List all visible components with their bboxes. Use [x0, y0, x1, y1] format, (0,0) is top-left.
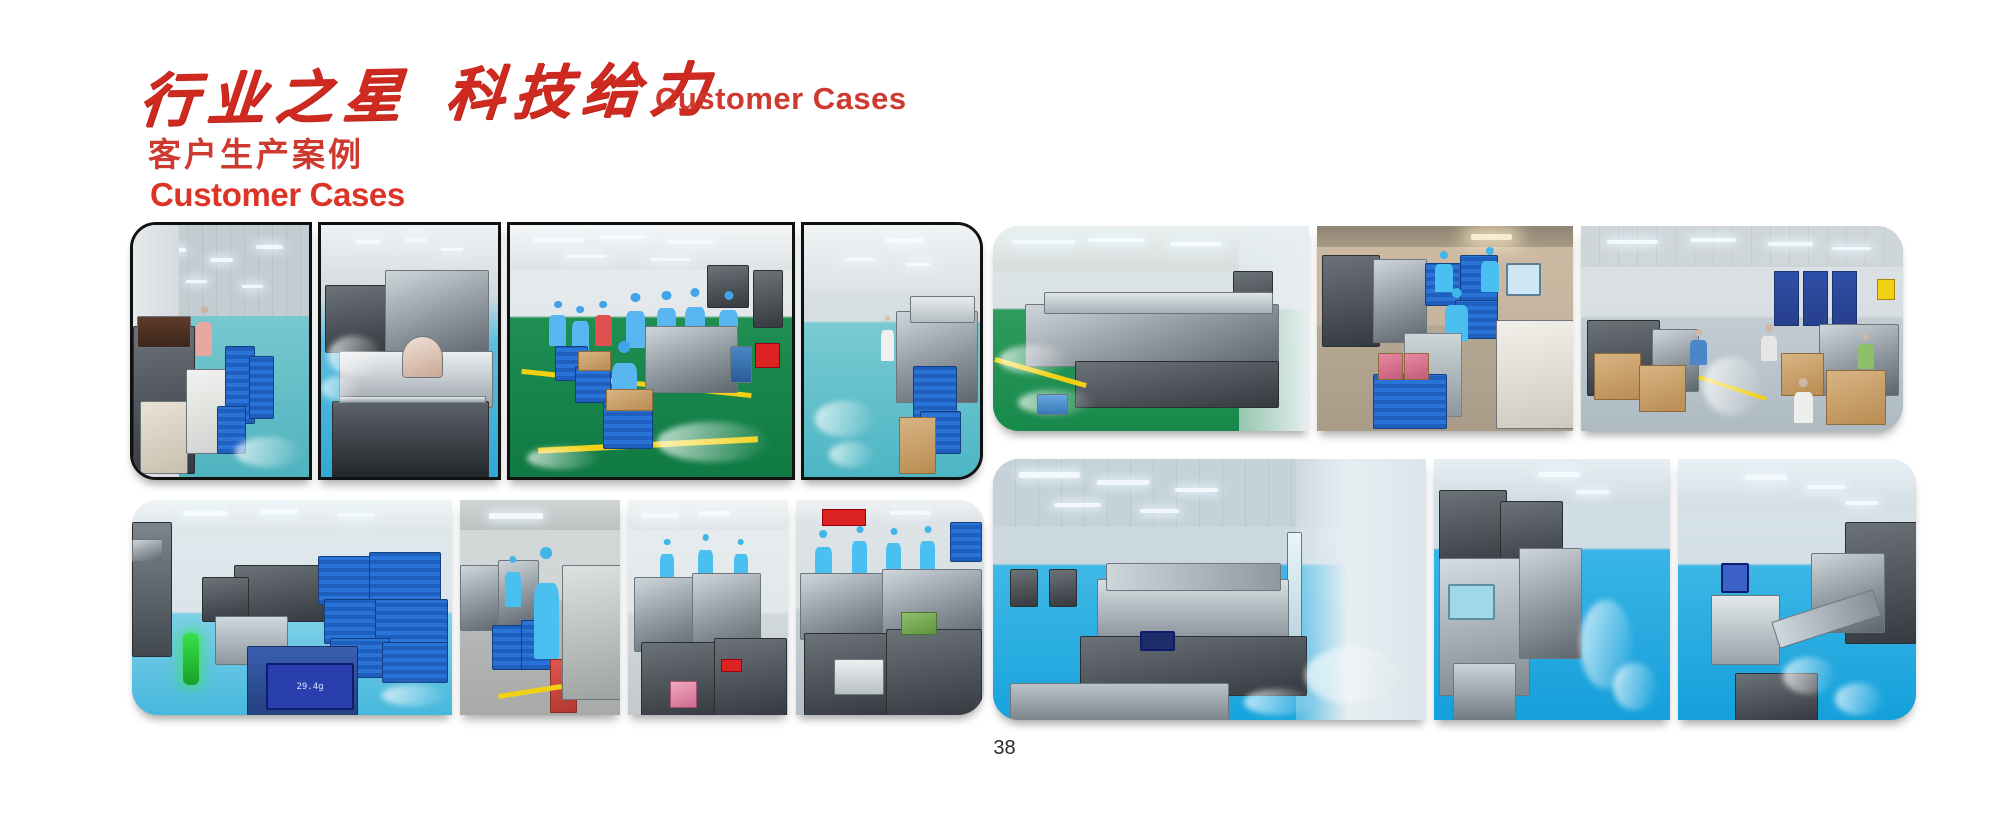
photo-green-workers[interactable]	[507, 222, 795, 480]
row1-right-group	[993, 226, 1903, 431]
weigh-display-value: 29.4g	[296, 682, 323, 692]
row2-right-group	[993, 459, 1916, 720]
photo-green-line[interactable]	[993, 226, 1309, 431]
calligraphy-left: 行业之星	[136, 61, 414, 135]
weigh-display: 29.4g	[266, 663, 353, 710]
subtitle-cn: 客户生产案例	[148, 128, 364, 176]
photo-carton-hall[interactable]	[1581, 226, 1903, 431]
photo-line-blue[interactable]	[318, 222, 501, 480]
photo-concrete-shop[interactable]	[460, 500, 620, 715]
photo-white-line[interactable]	[628, 500, 788, 715]
calligraphy-title: 行业之星科技给力	[136, 42, 722, 138]
photo-blue-corridor[interactable]	[993, 459, 1426, 720]
slide-header: 行业之星科技给力 Customer Cases 客户生产案例 Customer …	[0, 0, 2009, 210]
slide-canvas: 行业之星科技给力 Customer Cases 客户生产案例 Customer …	[0, 0, 2009, 838]
photo-blue-aisle[interactable]	[1434, 459, 1670, 720]
title-en-bold: Customer Cases	[150, 176, 405, 214]
photo-hall-teal[interactable]	[130, 222, 312, 480]
photo-blue-hall[interactable]	[1678, 459, 1916, 720]
photo-hall-teal2[interactable]	[801, 222, 983, 480]
signal-tower-green	[183, 633, 199, 685]
page-number: 38	[0, 737, 2009, 760]
row2-left-group: 29.4g	[132, 500, 984, 715]
photo-dense-line[interactable]	[796, 500, 984, 715]
photo-weigh-station[interactable]: 29.4g	[132, 500, 452, 715]
title-en-top: Customer Cases	[655, 81, 907, 117]
row1-left-group	[130, 222, 983, 480]
photo-warm-shop[interactable]	[1317, 226, 1573, 431]
